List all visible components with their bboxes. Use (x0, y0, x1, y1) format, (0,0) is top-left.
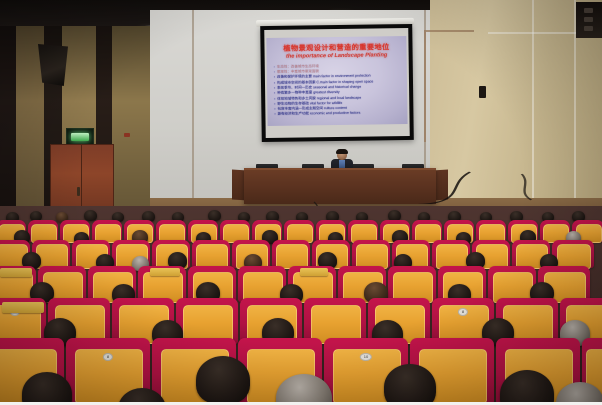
auditorium-seat[interactable] (352, 240, 390, 268)
wall-switch-plate (479, 86, 486, 98)
screen-surface: 植物景观设计和营造的重要地位 the importance of Landsca… (264, 28, 409, 138)
audience-head (22, 372, 72, 402)
auditorium-seat[interactable] (412, 220, 442, 242)
loudspeaker-icon (38, 44, 68, 86)
audience-head (196, 356, 250, 402)
wall-trim-line (192, 10, 194, 206)
slide-bullet: 兼有经济和生产功能 economic and productive factor… (274, 110, 407, 117)
podium-table (244, 168, 436, 204)
audience-head (84, 210, 97, 221)
audience-head (384, 364, 436, 402)
auditorium-seat[interactable] (476, 220, 506, 242)
audience-seating: 6 8 8 10 (0, 206, 602, 402)
exit-sign (66, 128, 94, 145)
door-handle[interactable] (77, 187, 80, 196)
right-door-frame (424, 30, 474, 142)
exit-sign-glow (71, 133, 89, 141)
auditorium-seat[interactable] (192, 240, 230, 268)
auditorium-seat[interactable] (284, 220, 314, 242)
auditorium-seat[interactable] (220, 220, 250, 242)
wall-marker (124, 133, 130, 137)
projection-screen: 植物景观设计和营造的重要地位 the importance of Landsca… (260, 24, 414, 142)
auditorium-photo: 植物景观设计和营造的重要地位 the importance of Landsca… (0, 0, 602, 405)
auditorium-seat[interactable] (238, 266, 286, 302)
slide-bullet-list: 生态性：改善城市生态环境 景观性：丰富城市景观面貌 改善和保护环境的主要 mai… (274, 63, 408, 118)
auditorium-seat[interactable] (156, 220, 186, 242)
auditorium-seat[interactable] (272, 240, 310, 268)
loudspeaker-icon (576, 2, 602, 38)
auditorium-seat[interactable] (92, 220, 122, 242)
auditorium-seat[interactable] (388, 266, 436, 302)
auditorium-seat[interactable] (28, 220, 58, 242)
slide-title-chinese: 植物景观设计和营造的重要地位 (266, 43, 406, 52)
seat-writing-tablet[interactable] (300, 268, 328, 276)
seat-writing-tablet[interactable] (150, 268, 180, 276)
auditorium-seat[interactable] (488, 266, 536, 302)
seat-writing-tablet[interactable] (2, 302, 44, 313)
auditorium-seat[interactable] (348, 220, 378, 242)
slide-subtitle-english: the importance of Landscape Planting (267, 53, 407, 61)
presenter-hair (336, 149, 348, 154)
projected-slide: 植物景观设计和营造的重要地位 the importance of Landsca… (266, 36, 407, 126)
auditorium-seat[interactable] (432, 240, 470, 268)
auditorium-seat[interactable] (552, 240, 594, 268)
seat-writing-tablet[interactable] (0, 268, 32, 277)
